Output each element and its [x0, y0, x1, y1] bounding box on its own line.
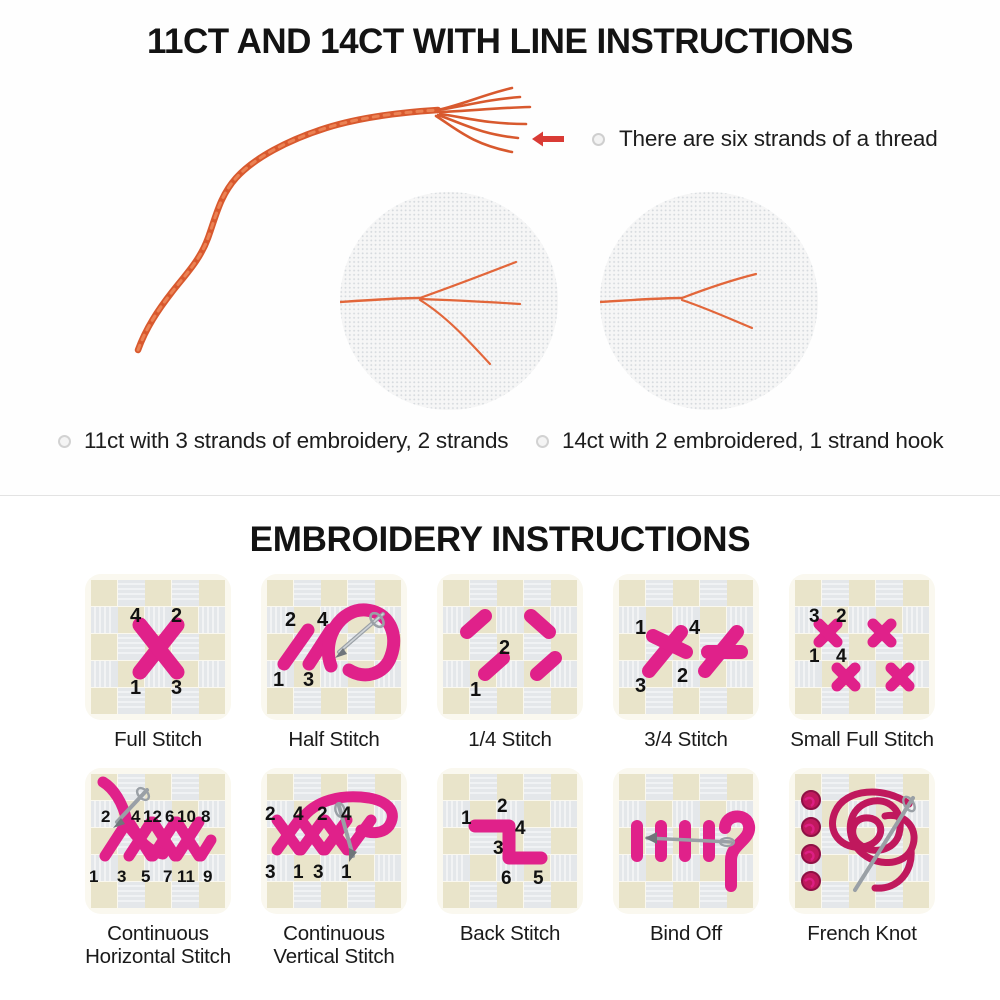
caption-11ct-text: 11ct with 3 strands of embroidery, 2 str…	[84, 428, 508, 454]
quarter-stitch-tile: 21	[437, 574, 583, 720]
stitch-label-small-full-stitch: Small Full Stitch	[790, 729, 934, 752]
stitch-cell-continuous-horizontal-stitch: 2412 6108 135 7119 Continuous Horizontal…	[70, 768, 246, 969]
svg-text:5: 5	[141, 867, 150, 886]
three-quarter-stitch-tile: 14 23	[613, 574, 759, 720]
stitch-label-quarter-stitch: 1/4 Stitch	[468, 729, 551, 752]
svg-text:4: 4	[130, 605, 142, 627]
ring-bullet-icon	[536, 435, 549, 448]
continuous-vertical-stitch-tile: 2424 3131	[261, 768, 407, 914]
svg-text:1: 1	[341, 862, 352, 883]
continuous-horizontal-stitch-tile: 2412 6108 135 7119	[85, 768, 231, 914]
ring-bullet-icon	[58, 435, 71, 448]
half-stitch-tile: 24 13	[261, 574, 407, 720]
thread-note: There are six strands of a thread	[530, 126, 938, 152]
arrow-left-icon	[530, 129, 566, 149]
svg-text:4: 4	[689, 617, 701, 639]
stitch-label-full-stitch: Full Stitch	[114, 729, 202, 752]
stitch-grid: 42 13 Full Stitch	[70, 574, 950, 969]
svg-text:4: 4	[341, 804, 352, 825]
stitch-label-three-quarter-stitch: 3/4 Stitch	[644, 729, 727, 752]
svg-text:1: 1	[470, 679, 481, 701]
svg-text:2: 2	[836, 606, 847, 627]
svg-text:1: 1	[89, 867, 98, 886]
svg-text:6: 6	[165, 807, 174, 826]
ring-bullet-icon	[592, 133, 605, 146]
svg-text:4: 4	[515, 818, 526, 839]
svg-text:4: 4	[836, 646, 847, 667]
swatch-11ct	[340, 192, 558, 410]
section-embroidery-instructions: EMBROIDERY INSTRUCTIONS	[0, 496, 1000, 1000]
svg-text:1: 1	[130, 677, 141, 699]
stitch-label-french-knot: French Knot	[807, 923, 916, 946]
french-knot-tile	[789, 768, 935, 914]
thread-note-text: There are six strands of a thread	[619, 126, 938, 152]
svg-text:3: 3	[303, 669, 314, 691]
svg-text:3: 3	[171, 677, 182, 699]
svg-text:2: 2	[285, 609, 296, 631]
small-full-stitch-tile: 32 14	[789, 574, 935, 720]
stitch-label-half-stitch: Half Stitch	[288, 729, 379, 752]
svg-text:6: 6	[501, 868, 512, 889]
svg-text:1: 1	[461, 808, 472, 829]
svg-text:8: 8	[201, 807, 210, 826]
svg-text:10: 10	[177, 807, 196, 826]
bind-off-tile	[613, 768, 759, 914]
svg-text:4: 4	[293, 804, 304, 825]
svg-text:2: 2	[171, 605, 182, 627]
full-stitch-tile: 42 13	[85, 574, 231, 720]
section-thread-instructions: 11CT AND 14CT WITH LINE INSTRUCTIONS	[0, 0, 1000, 496]
svg-text:2: 2	[265, 804, 276, 825]
stitch-row-2: 2412 6108 135 7119 Continuous Horizontal…	[70, 768, 950, 969]
svg-text:3: 3	[809, 606, 820, 627]
svg-text:2: 2	[497, 796, 508, 817]
stitch-cell-small-full-stitch: 32 14 Small Full Stitch	[774, 574, 950, 752]
svg-text:3: 3	[117, 867, 126, 886]
stitch-row-1: 42 13 Full Stitch	[70, 574, 950, 752]
stitch-cell-french-knot: French Knot	[774, 768, 950, 969]
svg-text:11: 11	[177, 867, 195, 886]
svg-text:2: 2	[499, 637, 510, 659]
back-stitch-tile: 124 365	[437, 768, 583, 914]
stitch-label-continuous-horizontal-stitch: Continuous Horizontal Stitch	[85, 923, 231, 969]
svg-text:4: 4	[317, 609, 329, 631]
stitch-cell-bind-off: Bind Off	[598, 768, 774, 969]
swatch-14ct	[600, 192, 818, 410]
section-title: EMBROIDERY INSTRUCTIONS	[0, 520, 1000, 560]
svg-text:12: 12	[143, 807, 162, 826]
svg-text:3: 3	[313, 862, 324, 883]
svg-text:2: 2	[677, 665, 688, 687]
page-title: 11CT AND 14CT WITH LINE INSTRUCTIONS	[0, 22, 1000, 62]
stitch-cell-full-stitch: 42 13 Full Stitch	[70, 574, 246, 752]
stitch-cell-back-stitch: 124 365 Back Stitch	[422, 768, 598, 969]
svg-text:1: 1	[635, 617, 646, 639]
svg-text:4: 4	[131, 807, 141, 826]
caption-11ct: 11ct with 3 strands of embroidery, 2 str…	[0, 428, 520, 454]
svg-text:1: 1	[809, 646, 820, 667]
svg-text:3: 3	[493, 838, 504, 859]
svg-text:3: 3	[265, 862, 276, 883]
stitch-cell-half-stitch: 24 13 Half Stitch	[246, 574, 422, 752]
svg-text:2: 2	[317, 804, 328, 825]
svg-text:3: 3	[635, 675, 646, 697]
caption-14ct: 14ct with 2 embroidered, 1 strand hook	[520, 428, 1000, 454]
stitch-label-back-stitch: Back Stitch	[460, 923, 560, 946]
instruction-sheet: 11CT AND 14CT WITH LINE INSTRUCTIONS	[0, 0, 1000, 1000]
svg-text:1: 1	[273, 669, 284, 691]
svg-text:9: 9	[203, 867, 212, 886]
svg-text:5: 5	[533, 868, 544, 889]
svg-text:1: 1	[293, 862, 304, 883]
stitch-cell-quarter-stitch: 21 1/4 Stitch	[422, 574, 598, 752]
stitch-label-continuous-vertical-stitch: Continuous Vertical Stitch	[273, 923, 394, 969]
caption-14ct-text: 14ct with 2 embroidered, 1 strand hook	[562, 428, 943, 454]
swatch-captions: 11ct with 3 strands of embroidery, 2 str…	[0, 428, 1000, 454]
stitch-label-bind-off: Bind Off	[650, 923, 722, 946]
svg-text:2: 2	[101, 807, 110, 826]
svg-text:7: 7	[163, 867, 172, 886]
stitch-cell-three-quarter-stitch: 14 23 3/4 Stitch	[598, 574, 774, 752]
stitch-cell-continuous-vertical-stitch: 2424 3131 Continuous Vertical Stitch	[246, 768, 422, 969]
